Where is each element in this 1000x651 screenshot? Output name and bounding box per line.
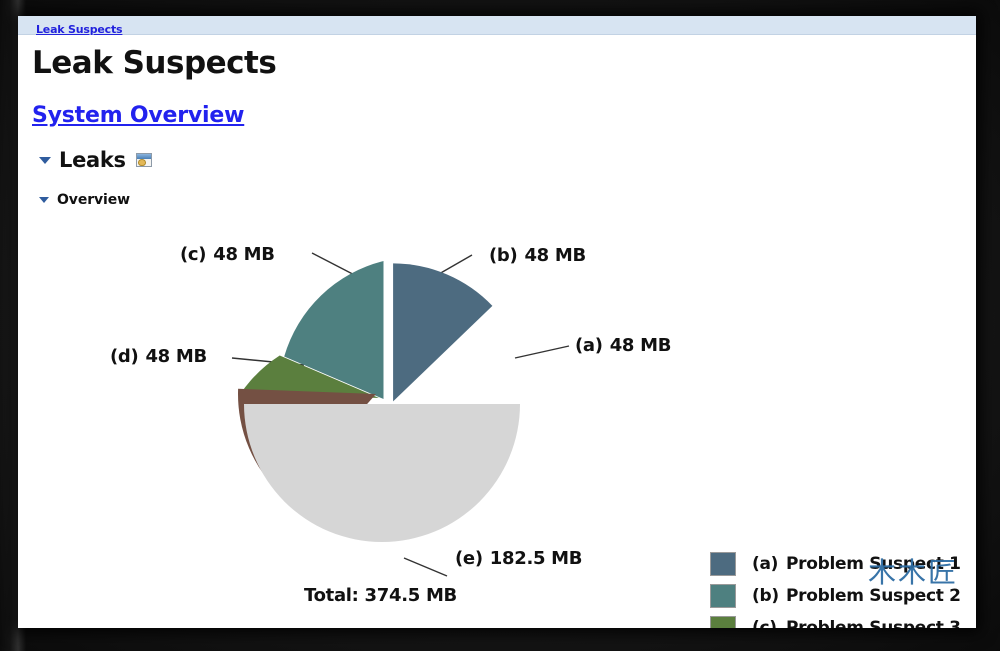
section-header-leaks[interactable]: Leaks (39, 148, 976, 172)
pie-label-a: (a)48 MB (575, 335, 671, 356)
section-header-overview[interactable]: Overview (39, 192, 976, 208)
window-frame: Leak Suspects Leak Suspects System Overv… (0, 0, 1000, 651)
system-overview-link[interactable]: System Overview (32, 103, 244, 128)
breadcrumb: Leak Suspects (18, 16, 976, 35)
report-panel: Leak Suspects Leak Suspects System Overv… (18, 16, 976, 628)
section-label-overview: Overview (57, 192, 130, 208)
triangle-down-icon[interactable] (39, 197, 49, 203)
legend-label-c: Problem Suspect 3 (786, 618, 961, 628)
pie-chart (32, 208, 732, 628)
report-content: Leak Suspects System Overview Leaks Over… (18, 35, 976, 627)
legend-swatch-b (710, 584, 736, 608)
legend-key-b: (b) (752, 586, 786, 606)
page-title: Leak Suspects (32, 45, 976, 81)
legend-key-a: (a) (752, 554, 786, 574)
pie-slice-a[interactable] (393, 263, 492, 401)
legend-key-c: (c) (752, 618, 786, 628)
pie-slice-e[interactable] (244, 404, 520, 542)
pie-label-b: (b)48 MB (489, 245, 586, 266)
pie-label-c: (c)48 MB (180, 244, 275, 265)
triangle-down-icon[interactable] (39, 157, 51, 164)
pie-label-d: (d)48 MB (110, 346, 207, 367)
pie-chart-area: (c)48 MB (d)48 MB (b)48 MB (a)48 MB (e)1… (32, 208, 976, 628)
legend-swatch-a (710, 552, 736, 576)
chart-total-label: Total: 374.5 MB (304, 585, 457, 606)
pie-label-e: (e)182.5 MB (455, 548, 582, 569)
leader-line-a (515, 346, 569, 358)
leader-line-e (404, 558, 447, 576)
legend-item[interactable]: (c) Problem Suspect 3 (710, 612, 976, 628)
section-label-leaks: Leaks (59, 148, 126, 172)
legend-swatch-c (710, 616, 736, 628)
chart-window-icon[interactable] (136, 153, 152, 167)
watermark: 木木匠 (868, 551, 958, 591)
